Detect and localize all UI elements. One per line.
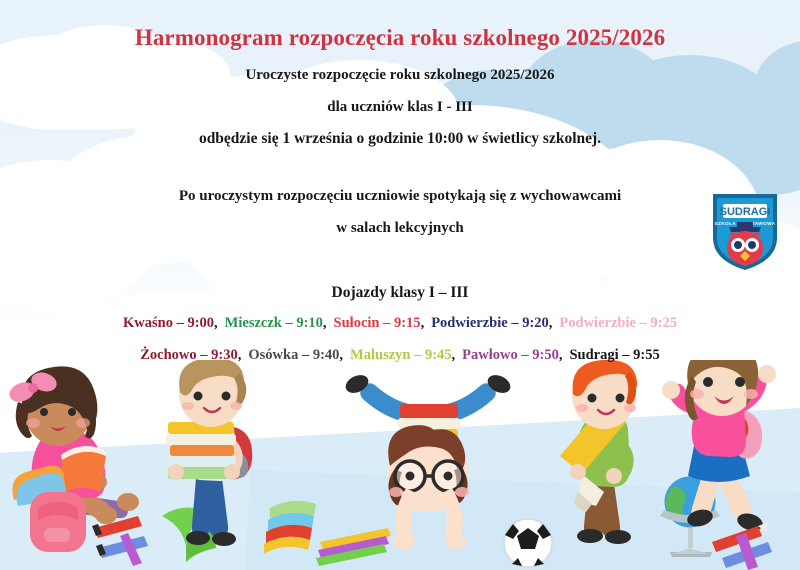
intro-line-2: dla uczniów klas I - III	[0, 99, 800, 116]
route-separator: ,	[339, 347, 343, 363]
routes-heading: Dojazdy klasy I – III	[0, 284, 800, 302]
route-stop: Kwaśno – 9:00	[123, 315, 214, 331]
route-stop: Maluszyn – 9:45	[350, 347, 452, 363]
poster-text-layer: Harmonogram rozpoczęcia roku szkolnego 2…	[0, 0, 800, 570]
route-separator: ,	[323, 315, 327, 331]
poster-root: Harmonogram rozpoczęcia roku szkolnego 2…	[0, 0, 800, 570]
intro-line-3: odbędzie się 1 września o godzinie 10:00…	[0, 130, 800, 148]
route-separator: ,	[421, 315, 425, 331]
route-stop: Podwierzbie – 9:25	[559, 315, 677, 331]
owl-icon	[727, 222, 763, 265]
meeting-line-1: Po uroczystym rozpoczęciu uczniowie spot…	[0, 188, 800, 205]
route-stop: Podwierzbie – 9:20	[431, 315, 549, 331]
route-separator: ,	[238, 347, 242, 363]
intro-line-1: Uroczyste rozpoczęcie roku szkolnego 202…	[0, 67, 800, 84]
route-stop: Osówka – 9:40	[248, 347, 339, 363]
route-stop: Sułocin – 9:15	[334, 315, 421, 331]
route-stop: Sudragi – 9:55	[569, 347, 659, 363]
logo-school-name: SUDRAGI	[720, 206, 771, 218]
route-separator: ,	[559, 347, 563, 363]
route-stop: Żochowo – 9:30	[140, 347, 237, 363]
routes-row-1: Kwaśno – 9:00,Mieszczk – 9:10,Sułocin – …	[0, 315, 800, 332]
route-separator: ,	[214, 315, 218, 331]
route-stop: Pawłowo – 9:50	[462, 347, 559, 363]
route-separator: ,	[549, 315, 553, 331]
route-separator: ,	[452, 347, 456, 363]
meeting-line-2: w salach lekcyjnych	[0, 220, 800, 237]
route-stop: Mieszczk – 9:10	[225, 315, 323, 331]
page-title: Harmonogram rozpoczęcia roku szkolnego 2…	[0, 25, 800, 51]
routes-row-2: Żochowo – 9:30,Osówka – 9:40,Maluszyn – …	[0, 347, 800, 364]
school-shield-owl-logo: SUDRAGI SZKOŁA PODSTAWOWA	[709, 188, 781, 272]
